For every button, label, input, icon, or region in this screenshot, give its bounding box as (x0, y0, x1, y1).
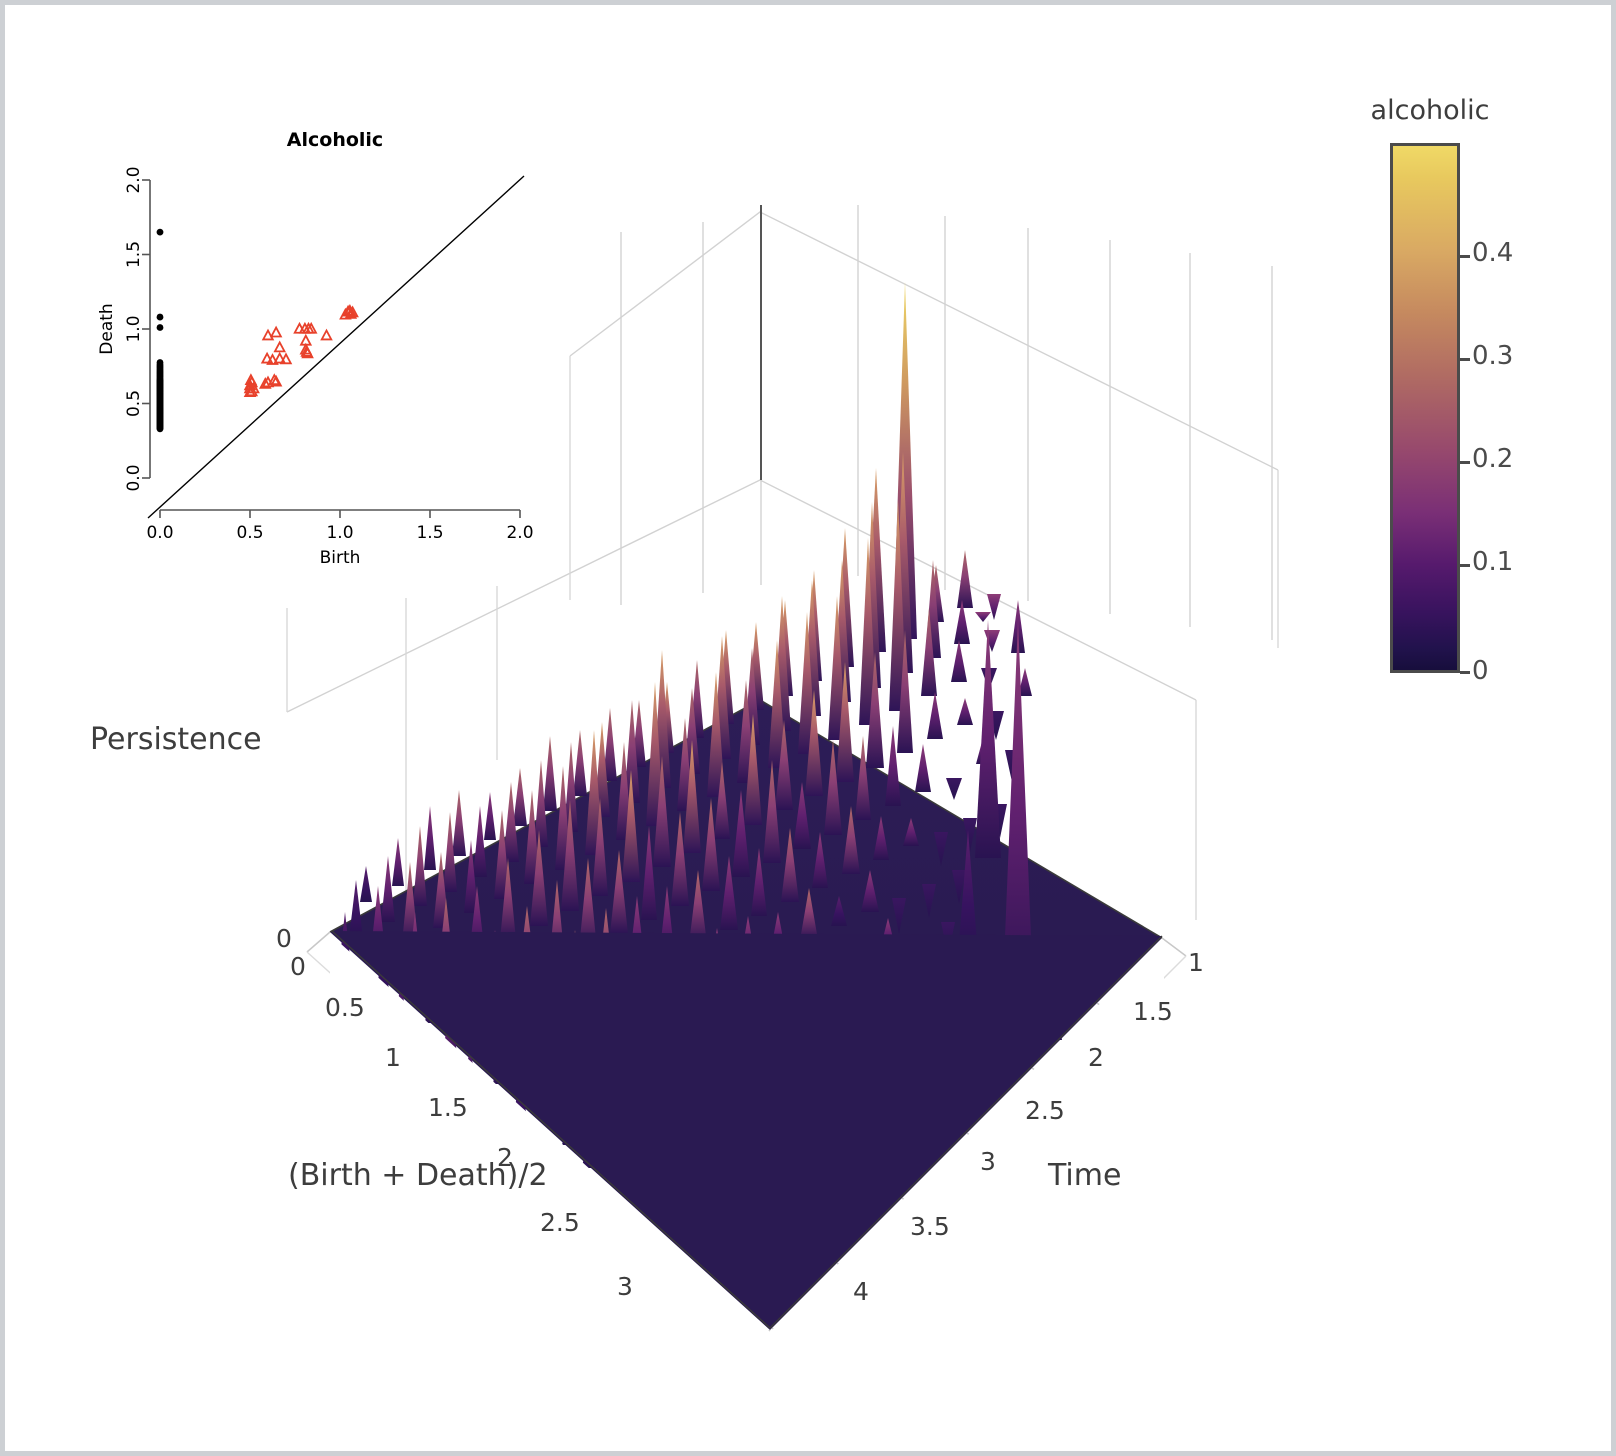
y-axis-label: Time (1048, 1158, 1121, 1193)
y-tick-25: 2.5 (1025, 1096, 1065, 1125)
inset-point-H1 (281, 354, 291, 363)
inset-y-tick-0: 0.0 (124, 464, 144, 491)
inset-y-tick-2: 1.0 (124, 315, 144, 342)
inset-y-tick-1: 0.5 (124, 390, 144, 417)
inset-x-tick-4: 2.0 (506, 523, 533, 543)
legend-tick-mark-04 (1460, 255, 1470, 258)
inset-persistence-diagram: Alcoholic 0.0 0.5 1.0 1.5 2.0 (90, 118, 560, 568)
inset-x-tick-0: 0.0 (146, 523, 173, 543)
inset-point-H0 (157, 229, 164, 236)
legend-tick-label-01: 0.1 (1472, 547, 1513, 577)
inset-x-tick-1: 0.5 (236, 523, 263, 543)
legend-gradient-bar (1390, 143, 1460, 673)
inset-svg: Alcoholic 0.0 0.5 1.0 1.5 2.0 (90, 118, 560, 568)
inset-y-axis-label: Death (97, 303, 117, 354)
y-tick-2: 2 (1088, 1043, 1104, 1072)
x-tick-3: 3 (617, 1272, 633, 1301)
legend-tick-label-04: 0.4 (1472, 238, 1513, 268)
inset-point-H1 (322, 331, 332, 340)
legend-tick-mark-02 (1460, 461, 1470, 464)
z-axis-label: Persistence (90, 722, 262, 757)
inset-point-H1 (271, 328, 281, 337)
inset-data-points (157, 229, 358, 432)
legend-tick-label-0: 0 (1472, 656, 1489, 686)
x-tick-25: 2.5 (540, 1208, 580, 1237)
legend-tick-mark-03 (1460, 358, 1470, 361)
y-tick-1: 1 (1188, 948, 1204, 977)
inset-point-H1 (275, 342, 285, 351)
y-tick-35: 3.5 (910, 1212, 950, 1241)
inset-x-axis (160, 510, 520, 518)
x-tick-05: 0.5 (325, 993, 365, 1022)
legend-tick-label-03: 0.3 (1472, 341, 1513, 371)
inset-y-tick-4: 2.0 (124, 166, 144, 193)
y-tick-15: 1.5 (1133, 997, 1173, 1026)
y-tick-3: 3 (980, 1147, 996, 1176)
inset-point-H0 (157, 324, 164, 331)
legend-tick-label-02: 0.2 (1472, 444, 1513, 474)
x-tick-0: 0 (276, 924, 292, 953)
inset-x-tick-labels: 0.0 0.5 1.0 1.5 2.0 (146, 523, 533, 543)
x-tick-15: 1.5 (428, 1093, 468, 1122)
inset-x-axis-label: Birth (320, 548, 361, 568)
inset-diagonal-line (148, 176, 524, 518)
legend-tick-mark-01 (1460, 564, 1470, 567)
z-tick-0: 0 (290, 952, 306, 981)
inset-y-tick-3: 1.5 (124, 241, 144, 268)
colorbar-legend: alcoholic 0.4 0.3 0.2 0.1 0 (1360, 95, 1600, 705)
y-tick-4: 4 (853, 1277, 869, 1306)
legend-tick-mark-0 (1460, 671, 1470, 674)
legend-title: alcoholic (1360, 95, 1500, 126)
x-tick-1: 1 (385, 1043, 401, 1072)
inset-x-tick-3: 1.5 (416, 523, 443, 543)
inset-y-tick-labels: 0.0 0.5 1.0 1.5 2.0 (124, 166, 144, 491)
x-axis-label: (Birth + Death)/2 (288, 1158, 548, 1193)
inset-title: Alcoholic (287, 129, 383, 151)
inset-point-H0 (157, 425, 164, 432)
inset-x-tick-2: 1.0 (326, 523, 353, 543)
inset-point-H0 (157, 314, 164, 321)
